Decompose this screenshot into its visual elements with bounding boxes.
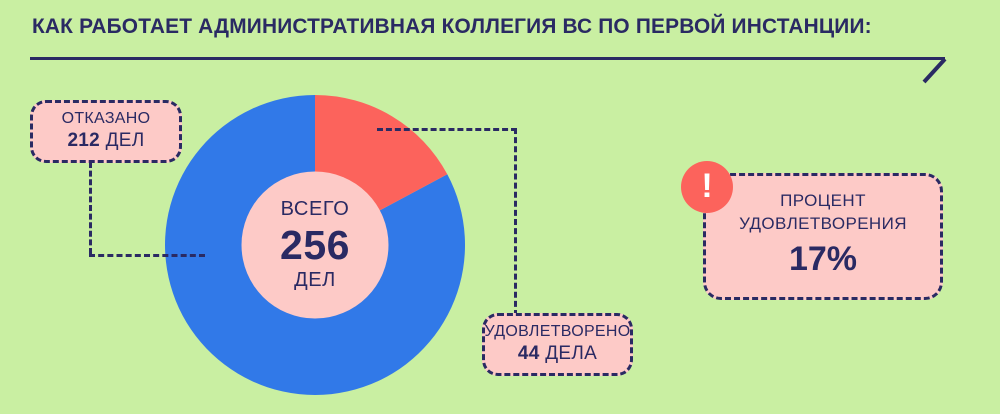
callout-refused-unit: ДЕЛ: [106, 130, 145, 151]
alert-exclamation-icon: !: [681, 161, 733, 213]
callout-granted-label: УДОВЛЕТВОРЕНО: [485, 322, 631, 342]
connector-refused-horizontal: [89, 254, 205, 257]
infographic-canvas: КАК РАБОТАЕТ АДМИНИСТРАТИВНАЯ КОЛЛЕГИЯ В…: [0, 0, 1000, 414]
callout-refused-label: ОТКАЗАНО: [62, 109, 151, 129]
callout-granted-value: 44: [518, 343, 540, 364]
callout-refused-value: 212: [67, 130, 100, 151]
connector-refused-vertical: [89, 162, 92, 254]
callout-percent-label-line2: УДОВЛЕТВОРЕНИЯ: [739, 213, 907, 235]
callout-satisfaction-percent: ПРОЦЕНТ УДОВЛЕТВОРЕНИЯ 17%: [703, 173, 943, 300]
callout-refused: ОТКАЗАНО 212 ДЕЛ: [30, 100, 182, 163]
callout-refused-value-row: 212 ДЕЛ: [67, 129, 144, 154]
donut-hole: [242, 172, 389, 319]
callout-granted: УДОВЛЕТВОРЕНО 44 ДЕЛА: [482, 313, 633, 376]
callout-percent-label-line1: ПРОЦЕНТ: [780, 190, 866, 212]
callout-granted-unit: ДЕЛА: [545, 343, 597, 364]
header-divider: [30, 57, 945, 60]
connector-granted-horizontal: [377, 128, 517, 131]
page-title: КАК РАБОТАЕТ АДМИНИСТРАТИВНАЯ КОЛЛЕГИЯ В…: [32, 14, 872, 39]
callout-granted-value-row: 44 ДЕЛА: [518, 342, 597, 367]
alert-exclamation-glyph: !: [701, 169, 712, 203]
arrow-tick-icon: [920, 57, 954, 83]
callout-percent-value: 17%: [789, 237, 857, 283]
donut-chart: [165, 95, 465, 395]
connector-granted-vertical: [514, 128, 517, 316]
